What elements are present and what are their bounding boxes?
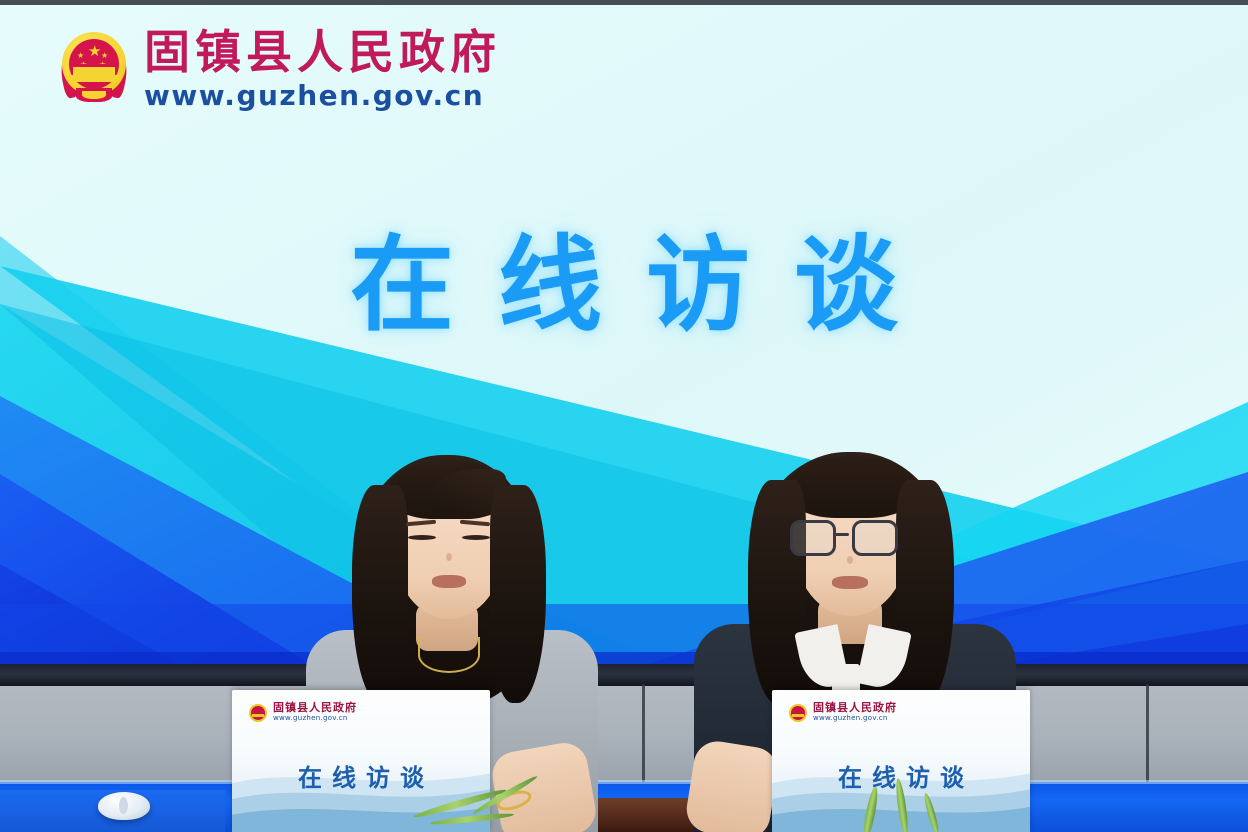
nameplate-emblem-icon (788, 703, 808, 723)
right-speaker-nose (847, 556, 853, 564)
nameplate-right-logo: 固镇县人民政府 www.guzhen.gov.cn (788, 702, 897, 723)
nameplate-left-logo: 固镇县人民政府 www.guzhen.gov.cn (248, 702, 357, 723)
nameplate-url: www.guzhen.gov.cn (273, 714, 357, 723)
wall-seam (642, 684, 645, 784)
desk-edge-highlight (0, 780, 1248, 784)
glasses-lens-right (852, 520, 898, 556)
nameplate-left: 固镇县人民政府 www.guzhen.gov.cn 在线访谈 (232, 690, 490, 832)
back-wall-panel (0, 684, 1248, 784)
glasses-lens-left (790, 520, 836, 556)
right-speaker-glasses (790, 520, 914, 554)
right-speaker-mouth (832, 576, 868, 589)
government-logo: ★ ★ ★ ★ ★ 固镇县人民政府 www.guzhen.gov.cn (58, 28, 501, 112)
left-speaker-hair-side-l (352, 485, 408, 703)
left-speaker-nose (446, 553, 452, 561)
right-speaker-hair-side-l (748, 480, 806, 704)
nameplate-title: 在线访谈 (232, 758, 490, 793)
logo-url: www.guzhen.gov.cn (144, 80, 501, 112)
nameplate-org-name: 固镇县人民政府 (813, 702, 897, 714)
left-speaker-eye-l (408, 535, 436, 540)
glasses-bridge (835, 533, 849, 536)
right-speaker-arm-left (683, 738, 780, 832)
page-title: 在线访谈 (0, 230, 1248, 340)
broadcast-screenshot: ★ ★ ★ ★ ★ 固镇县人民政府 www.guzhen.gov.cn 在线访谈 (0, 0, 1248, 832)
left-speaker-hair-side-r (490, 485, 546, 703)
left-speaker-arm-right (489, 739, 600, 832)
studio-backdrop: ★ ★ ★ ★ ★ 固镇县人民政府 www.guzhen.gov.cn 在线访谈 (0, 4, 1248, 676)
left-speaker-mouth (432, 575, 466, 588)
nameplate-url: www.guzhen.gov.cn (813, 714, 897, 723)
china-national-emblem-icon: ★ ★ ★ ★ ★ (58, 30, 130, 104)
logo-org-name: 固镇县人民政府 (144, 28, 501, 78)
wall-seam (1146, 684, 1149, 784)
backdrop-bottom-frame (0, 664, 1248, 686)
top-edge-bar (0, 0, 1248, 5)
left-speaker-eye-r (462, 535, 490, 540)
nameplate-emblem-icon (248, 703, 268, 723)
left-speaker-necklace (418, 637, 480, 673)
microphone-base (98, 792, 150, 820)
nameplate-org-name: 固镇县人民政府 (273, 702, 357, 714)
right-speaker-hair-side-r (896, 480, 954, 704)
